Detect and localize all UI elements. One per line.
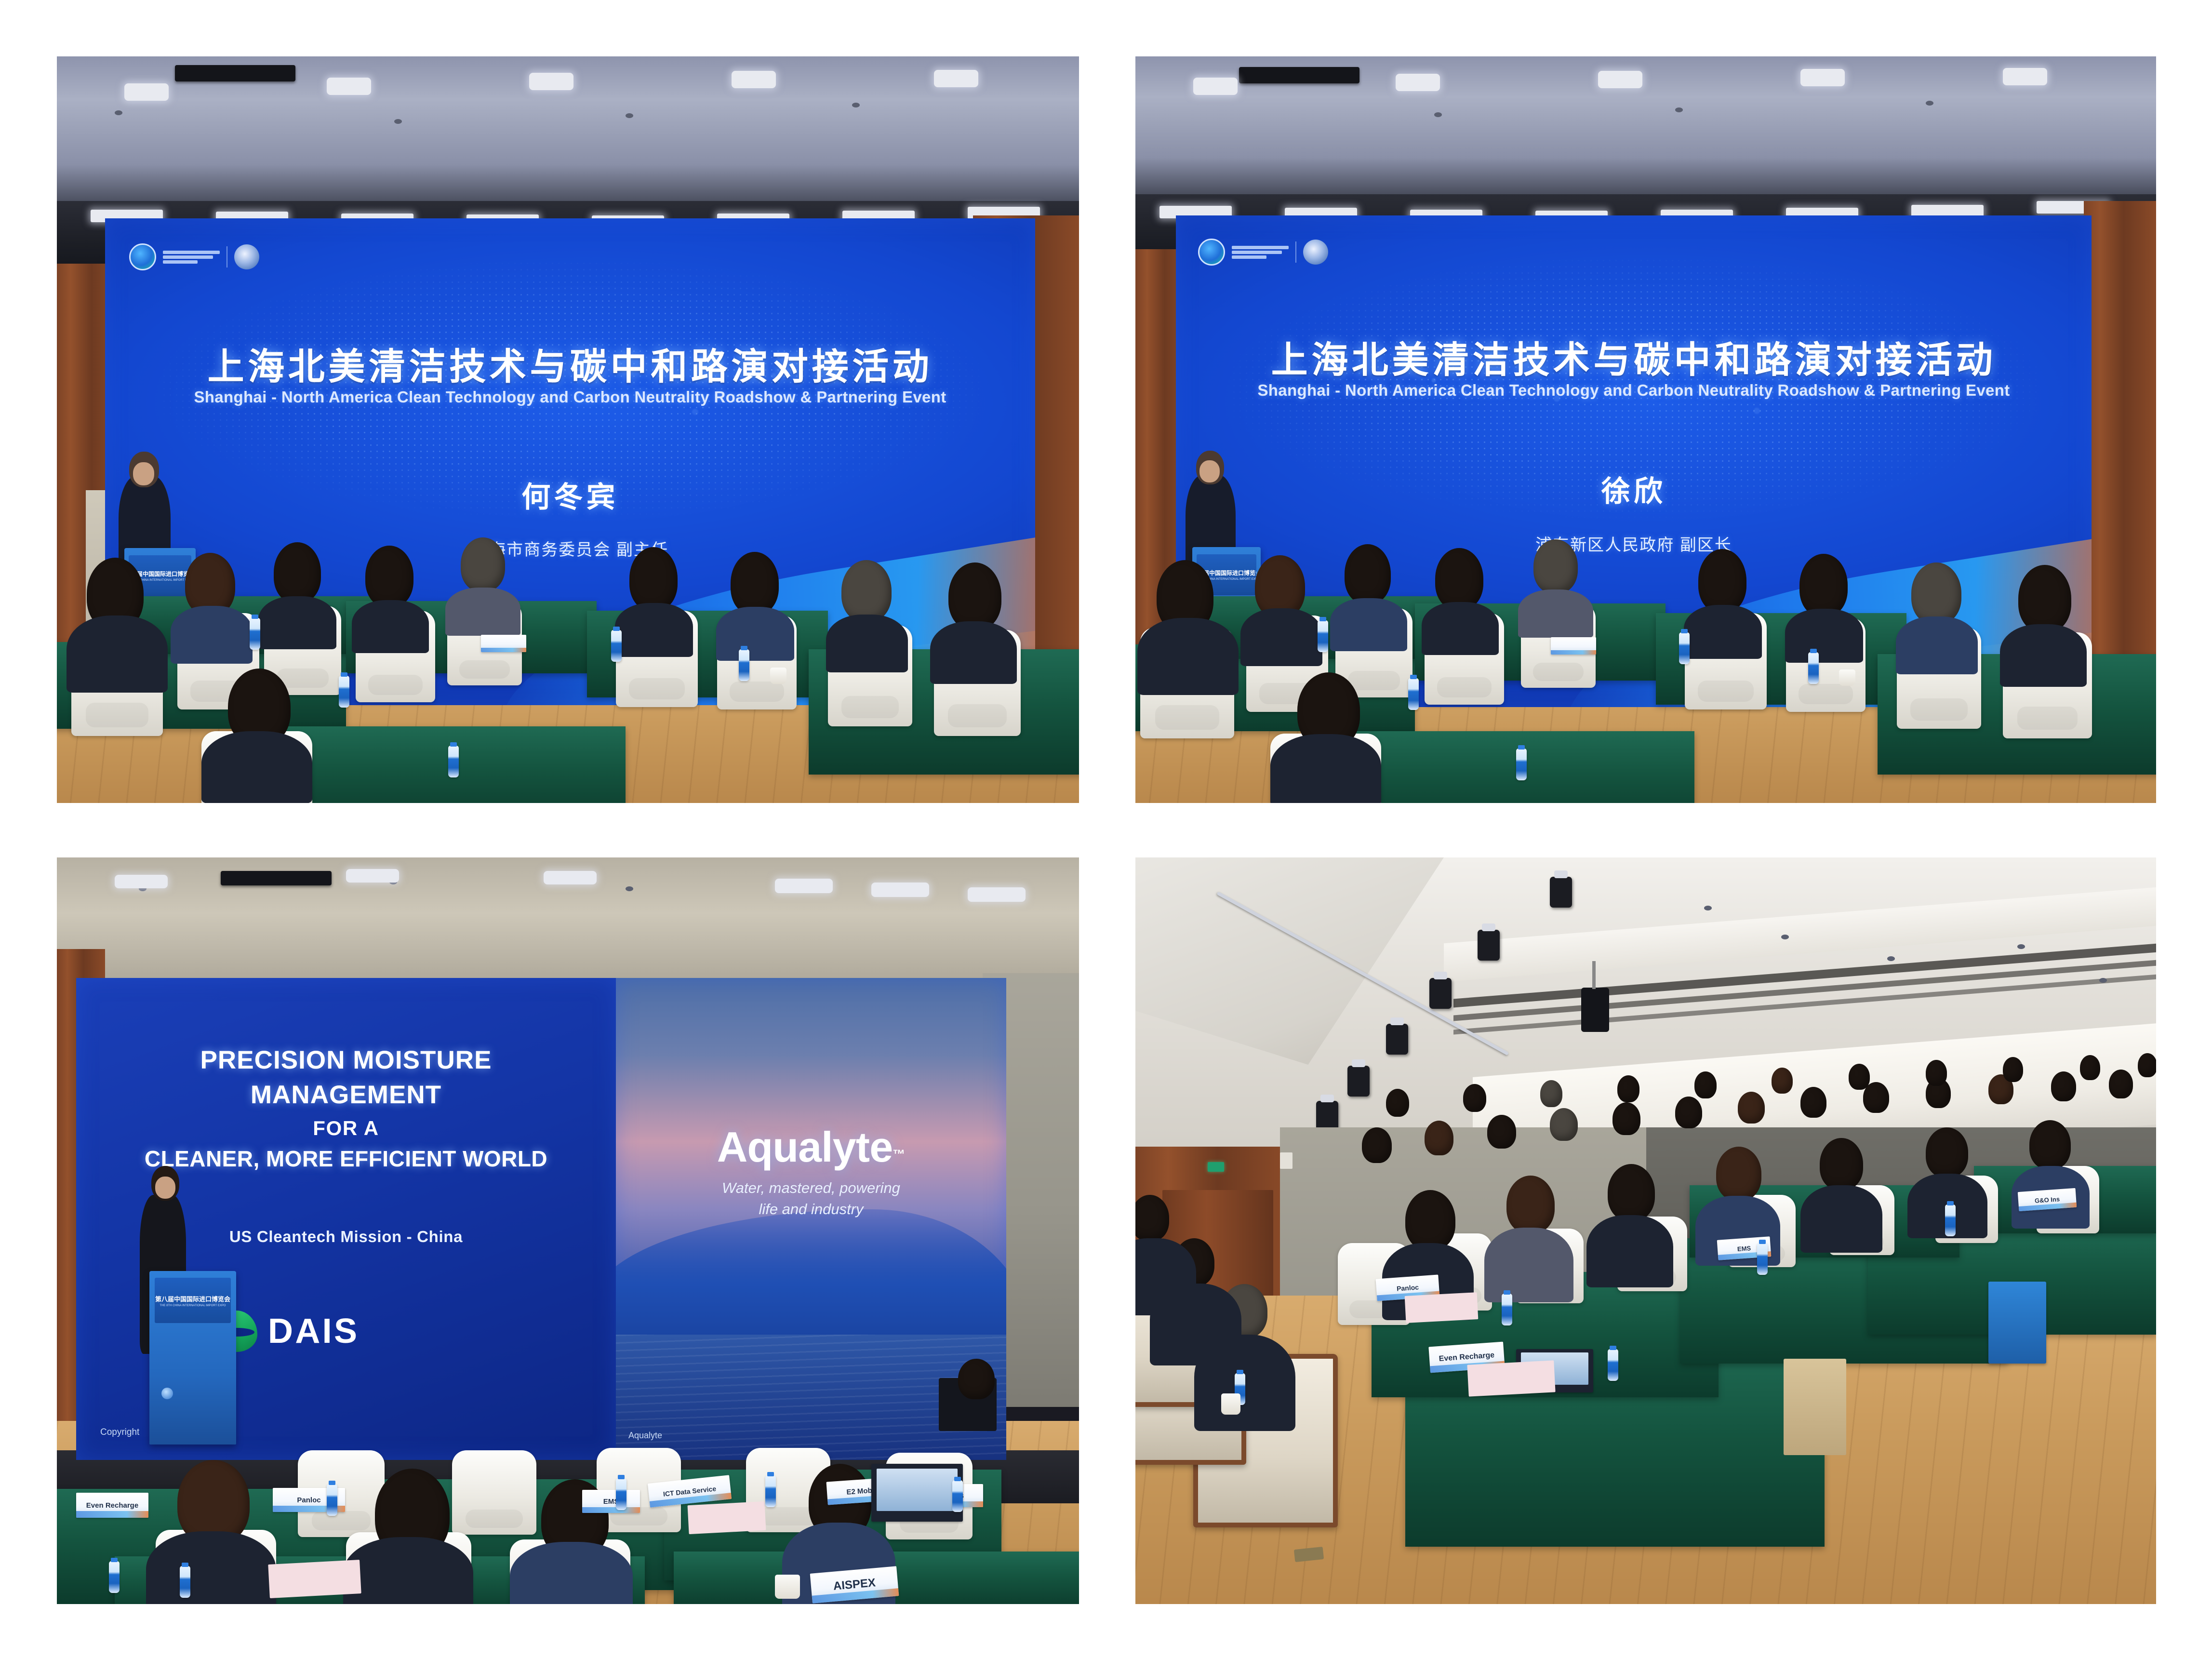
- aqualyte-tagline-line2: life and industry: [616, 1201, 1006, 1218]
- slide-headline-line1: PRECISION MOISTURE: [76, 1045, 616, 1075]
- us-delegation-seal-logo-icon: [1303, 240, 1328, 265]
- slide-logo-group: [129, 243, 259, 270]
- logo-divider: [227, 246, 227, 268]
- photo-panel-opening-remarks-he-dongbin[interactable]: 上海北美清洁技术与碳中和路演对接活动 Shanghai - North Amer…: [57, 56, 1079, 803]
- slide-headline-line2: MANAGEMENT: [76, 1080, 616, 1110]
- spotlight-icon: [1347, 1066, 1370, 1097]
- slide-title-cn: 上海北美清洁技术与碳中和路演对接活动: [1176, 330, 2092, 383]
- speaker-face: [1199, 460, 1220, 482]
- spotlight-icon: [1478, 930, 1500, 961]
- slide-title-cn: 上海北美清洁技术与碳中和路演对接活动: [105, 337, 1035, 390]
- ceiling-speaker-icon: [175, 65, 295, 81]
- slide-logo-group: [1198, 239, 1328, 266]
- podium-emblem-icon: [161, 1388, 173, 1399]
- conference-tote-bag: [1988, 1282, 2046, 1364]
- slide-headline-line4: CLEANER, MORE EFFICIENT WORLD: [76, 1146, 616, 1172]
- hanging-projector: [1581, 988, 1609, 1032]
- ciie-globe-logo-icon: [129, 243, 156, 270]
- spotlight-icon: [1429, 978, 1452, 1009]
- photo-panel-dais-aqualyte-presentation[interactable]: PRECISION MOISTURE MANAGEMENT FOR A CLEA…: [57, 857, 1079, 1604]
- ceiling-speaker-icon: [1239, 67, 1359, 83]
- podium: 第八届中国国际进口博览会 THE 8TH CHINA INTERNATIONAL…: [149, 1271, 236, 1445]
- spotlight-icon: [1550, 877, 1572, 908]
- us-delegation-seal-logo-icon: [234, 244, 259, 269]
- paper-bag: [1784, 1359, 1846, 1455]
- aqualyte-footer: Aqualyte: [628, 1431, 662, 1441]
- logo-divider: [1295, 241, 1296, 263]
- tent-card-ems: EMS: [582, 1490, 640, 1513]
- aqualyte-tagline-line1: Water, mastered, powering: [616, 1179, 1006, 1197]
- tent-card-even-recharge: Even Recharge: [76, 1493, 148, 1518]
- ciie-wordmark-icon: [163, 251, 220, 264]
- exit-sign-icon: [1208, 1162, 1224, 1172]
- podium-sign-en: THE 8TH CHINA INTERNATIONAL IMPORT EXPO: [160, 1304, 226, 1307]
- dais-wordmark: DAIS: [268, 1311, 359, 1351]
- ciie-globe-logo-icon: [1198, 239, 1225, 266]
- speaker-face: [133, 462, 154, 485]
- slide-speaker-role: 浦东新区人民政府 副区长: [1176, 532, 2092, 555]
- dais-logo-lockup: DAIS: [216, 1311, 359, 1352]
- wall-switch-plate: [1280, 1152, 1293, 1169]
- presenter-face: [155, 1177, 175, 1199]
- slide-copyright: Copyright: [100, 1427, 139, 1438]
- slide-headline-line3: FOR A: [76, 1117, 616, 1140]
- aqualyte-trademark-icon: ™: [893, 1147, 905, 1162]
- aqualyte-wordmark: Aqualyte: [717, 1123, 893, 1171]
- projector-mount: [1592, 961, 1596, 989]
- photo-collage: 上海北美清洁技术与碳中和路演对接活动 Shanghai - North Amer…: [0, 0, 2212, 1659]
- photo-panel-opening-remarks-xu-xin[interactable]: 上海北美清洁技术与碳中和路演对接活动 Shanghai - North Amer…: [1135, 56, 2156, 803]
- slide-speaker-role: 上海市商务委员会 副主任: [105, 536, 1035, 560]
- photo-panel-audience-wide-shot[interactable]: Even Recharge Panloc EMS G&O Ins: [1135, 857, 2156, 1604]
- slide-speaker-name: 何冬宾: [105, 474, 1035, 516]
- slide-title-en: Shanghai - North America Clean Technolog…: [1176, 381, 2092, 400]
- slide-speaker-name: 徐欣: [1176, 468, 2092, 510]
- podium-sign-cn: 第八届中国国际进口博览会: [155, 1294, 230, 1303]
- ciie-wordmark-icon: [1232, 246, 1289, 259]
- ceiling-speaker-icon: [221, 871, 332, 885]
- slide-title-en: Shanghai - North America Clean Technolog…: [105, 388, 1035, 406]
- tent-card-go-ins: G&O Ins: [2018, 1188, 2077, 1211]
- spotlight-icon: [1386, 1024, 1408, 1055]
- podium-sign: 第八届中国国际进口博览会 THE 8TH CHINA INTERNATIONAL…: [155, 1278, 231, 1323]
